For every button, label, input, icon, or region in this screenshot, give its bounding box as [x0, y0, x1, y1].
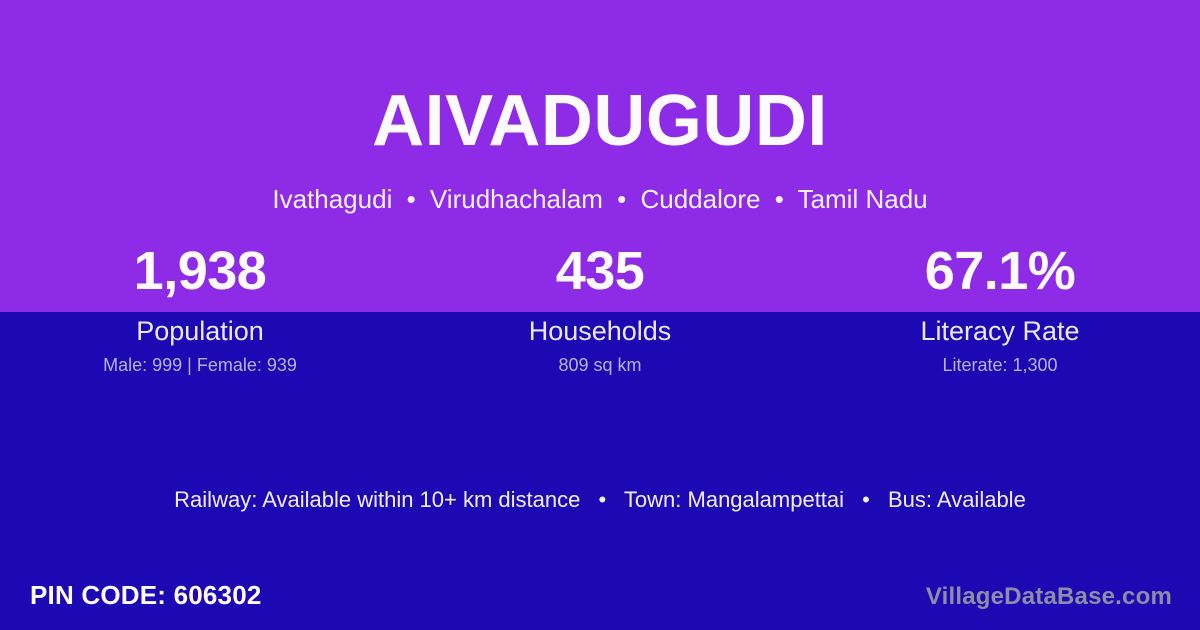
amenity-bus: Bus: Available: [888, 487, 1026, 512]
breadcrumb-item-taluk: Virudhachalam: [430, 184, 603, 214]
bullet-separator-icon: •: [400, 184, 423, 214]
bullet-separator-icon: •: [768, 184, 791, 214]
card-footer: PIN CODE: 606302 VillageDataBase.com: [0, 575, 1200, 630]
stat-subtext: 809 sq km: [400, 353, 800, 377]
stat-label: Population: [0, 315, 400, 348]
breadcrumb: Ivathagudi • Virudhachalam • Cuddalore •…: [0, 182, 1200, 216]
stat-literacy-rate: 67.1% Literacy Rate Literate: 1,300: [800, 240, 1200, 390]
stat-subtext: Literate: 1,300: [800, 353, 1200, 377]
bullet-separator-icon: •: [610, 184, 633, 214]
bullet-separator-icon: •: [587, 487, 619, 512]
stat-value: 435: [400, 240, 800, 302]
card-header: AIVADUGUDI Ivathagudi • Virudhachalam • …: [0, 0, 1200, 232]
bullet-separator-icon: •: [850, 487, 882, 512]
stat-value: 1,938: [0, 240, 400, 302]
pin-code: PIN CODE: 606302: [30, 578, 262, 612]
breadcrumb-item-state: Tamil Nadu: [798, 184, 928, 214]
site-brand: VillageDataBase.com: [926, 581, 1172, 613]
breadcrumb-item-alt-name: Ivathagudi: [272, 184, 392, 214]
stat-subtext: Male: 999 | Female: 939: [0, 353, 400, 377]
amenity-railway: Railway: Available within 10+ km distanc…: [174, 487, 580, 512]
stat-households: 435 Households 809 sq km: [400, 240, 800, 390]
amenities-row: Railway: Available within 10+ km distanc…: [0, 484, 1200, 516]
stat-label: Households: [400, 315, 800, 348]
stat-label: Literacy Rate: [800, 315, 1200, 348]
breadcrumb-item-district: Cuddalore: [640, 184, 760, 214]
stats-row: 1,938 Population Male: 999 | Female: 939…: [0, 240, 1200, 390]
village-info-card: AIVADUGUDI Ivathagudi • Virudhachalam • …: [0, 0, 1200, 630]
stat-value: 67.1%: [800, 240, 1200, 302]
page-title: AIVADUGUDI: [0, 82, 1200, 160]
amenity-town: Town: Mangalampettai: [624, 487, 844, 512]
stat-population: 1,938 Population Male: 999 | Female: 939: [0, 240, 400, 390]
